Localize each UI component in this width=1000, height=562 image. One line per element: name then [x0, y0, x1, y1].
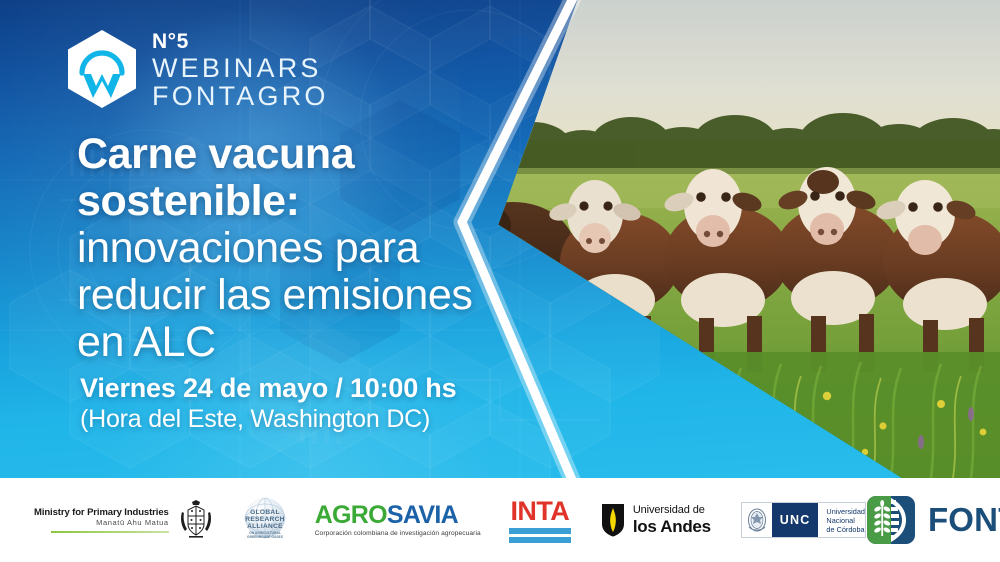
agrosavia-tagline: Corporación colombiana de investigación …	[315, 529, 481, 538]
unc-crest-icon	[742, 503, 772, 537]
shield-flame-icon	[601, 503, 625, 537]
sponsor-logo-mpi: Ministry for Primary Industries Manatū A…	[34, 500, 213, 540]
fontagro-wordmark: FONTAGRO	[928, 503, 1000, 537]
sponsor-logo-agrosavia: AGROSAVIA Corporación colombiana de inve…	[315, 502, 481, 538]
schedule-block: Viernes 24 de mayo / 10:00 hs (Hora del …	[80, 372, 456, 434]
sponsor-logo-inta: INTA	[509, 498, 571, 543]
svg-text:ALLIANCE: ALLIANCE	[247, 523, 283, 530]
webinar-banner: N°5 WEBINARS FONTAGRO Carne vacuna soste…	[0, 0, 1000, 562]
page-title: Carne vacuna sostenible: innovaciones pa…	[77, 131, 547, 366]
svg-text:GLOBAL: GLOBAL	[250, 509, 280, 516]
unc-line-2: Nacional	[826, 516, 865, 525]
agrosavia-word-agro: AGRO	[315, 501, 387, 529]
agrosavia-wordmark-icon: AGROSAVIA	[315, 502, 458, 528]
title-line-2: sostenible:	[77, 178, 547, 225]
unc-line-1: Universidad	[826, 507, 865, 516]
title-line-3: innovaciones para	[77, 225, 547, 272]
nz-coat-of-arms-icon	[179, 500, 213, 540]
hexagon-w-icon	[66, 29, 138, 109]
logo-word-fontagro: FONTAGRO	[152, 83, 329, 111]
webinar-logo-lockup: N°5 WEBINARS FONTAGRO	[66, 27, 329, 110]
title-line-5: en ALC	[77, 319, 547, 366]
svg-text:RESEARCH: RESEARCH	[245, 516, 284, 523]
sponsor-logo-unc: UNC Universidad Nacional de Córdoba	[741, 502, 866, 538]
fontagro-wheat-gear-icon	[866, 495, 916, 545]
logo-word-webinars: WEBINARS	[152, 55, 329, 83]
mpi-name-mi: Manatū Ahu Matua	[96, 518, 169, 528]
agrosavia-word-savia: SAVIA	[387, 501, 458, 529]
sponsor-logo-global-research-alliance: GLOBAL RESEARCH ALLIANCE ON AGRICULTURAL…	[239, 497, 291, 543]
inta-wordmark: INTA	[511, 498, 570, 525]
sponsor-logo-bar: Ministry for Primary Industries Manatū A…	[0, 478, 1000, 562]
svg-text:GREENHOUSE GASES: GREENHOUSE GASES	[247, 535, 284, 539]
inta-flag-bars-icon	[509, 528, 571, 534]
sponsor-logo-uniandes: Universidad de los Andes	[601, 503, 711, 537]
globe-icon: GLOBAL RESEARCH ALLIANCE ON AGRICULTURAL…	[239, 497, 291, 543]
event-timezone: (Hora del Este, Washington DC)	[80, 404, 456, 434]
uniandes-line-2: los Andes	[633, 517, 711, 536]
unc-line-3: de Córdoba	[826, 525, 865, 534]
mpi-name-en: Ministry for Primary Industries	[34, 507, 169, 518]
sponsor-logo-fontagro: FONTAGRO	[866, 495, 1000, 545]
title-line-4: reducir las emisiones	[77, 272, 547, 319]
uniandes-line-1: Universidad de	[633, 504, 711, 517]
mpi-rule	[51, 531, 169, 534]
edition-number: N°5	[152, 31, 329, 52]
unc-abbrev: UNC	[772, 503, 819, 537]
inta-flag-bars-icon-2	[509, 537, 571, 543]
event-date-time: Viernes 24 de mayo / 10:00 hs	[80, 372, 456, 404]
title-line-1: Carne vacuna	[77, 131, 547, 178]
